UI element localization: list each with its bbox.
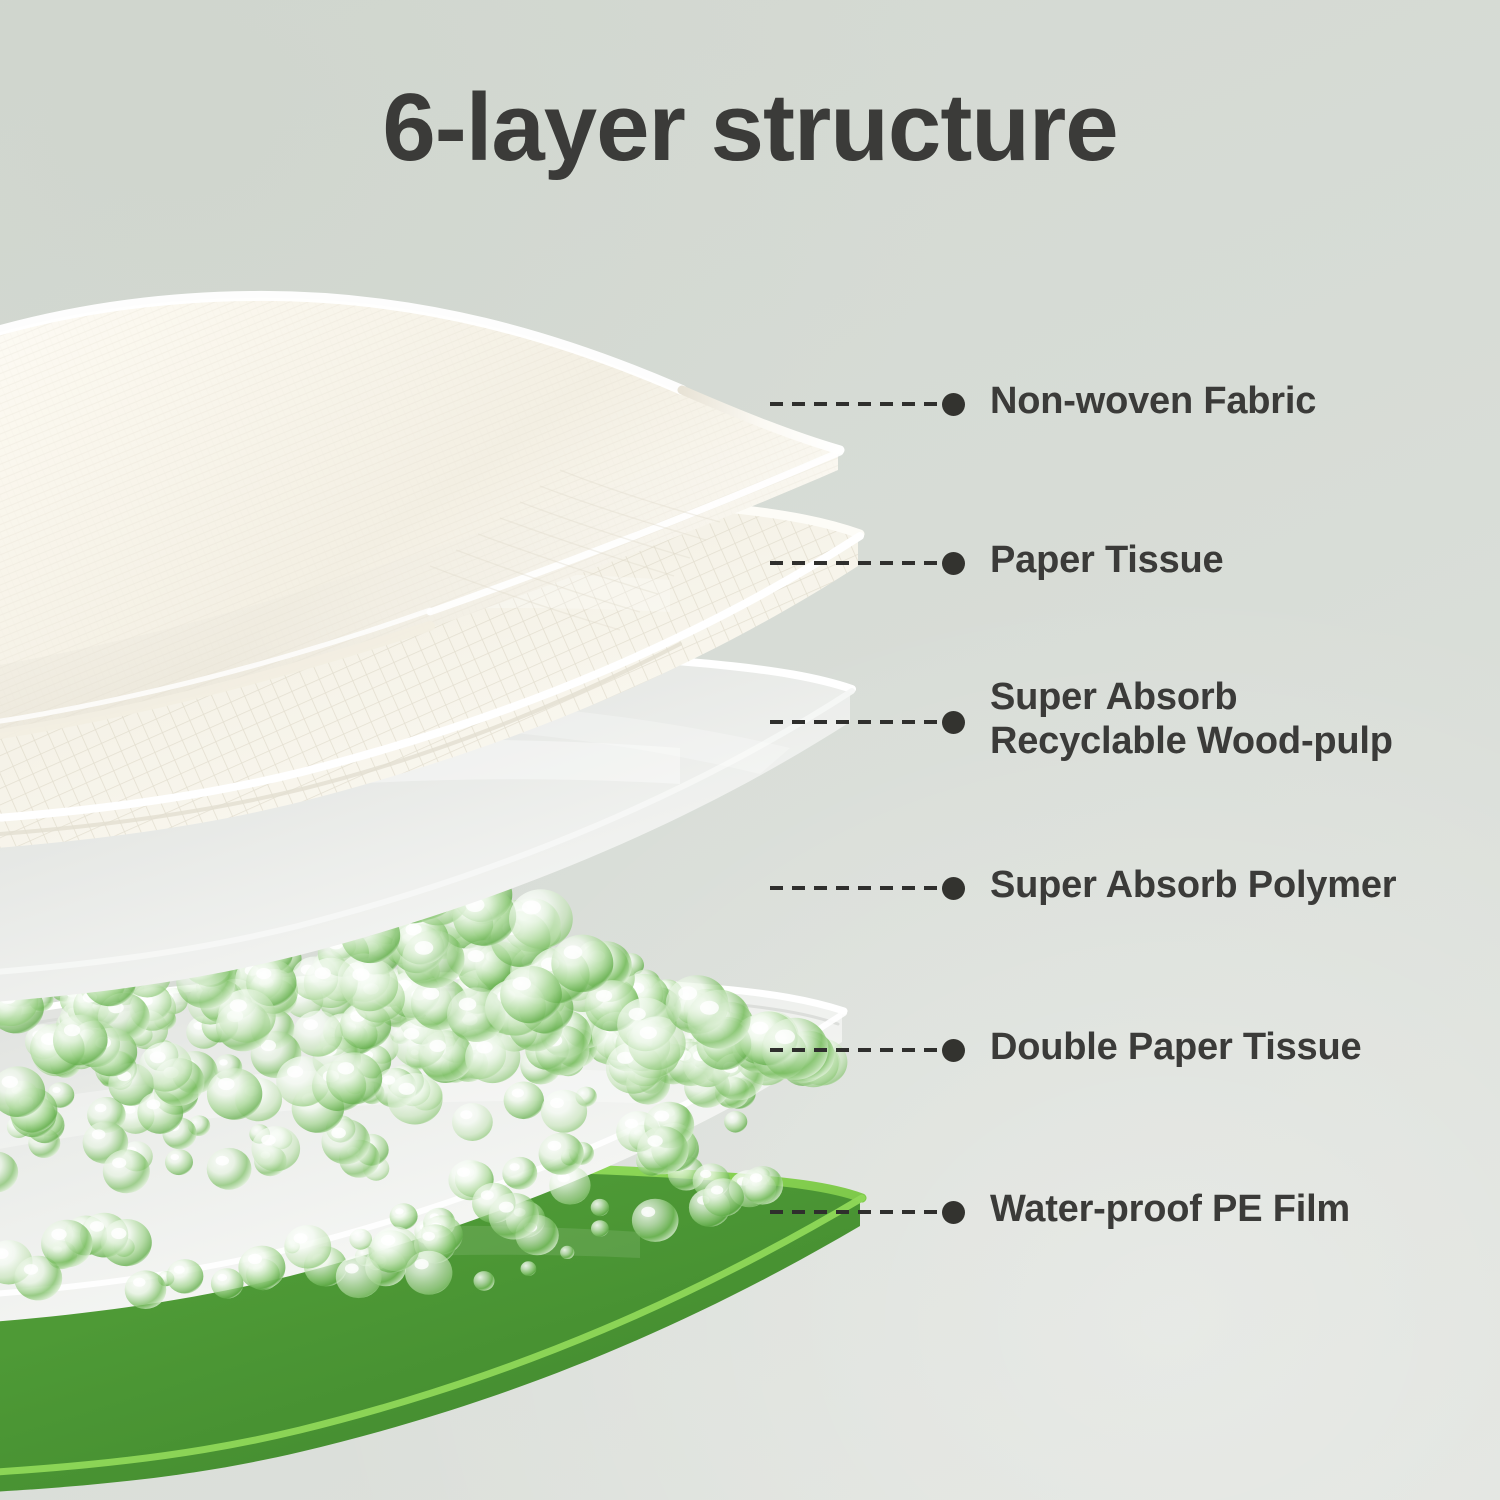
leader-dot [942,393,965,416]
leader-dot [942,877,965,900]
layer-label-2: Paper Tissue [990,538,1223,582]
layer-label-6: Water-proof PE Film [990,1187,1350,1231]
leader-line [770,561,942,565]
leader-line [770,1048,942,1052]
leader-dot [942,552,965,575]
leader-line [770,720,942,724]
layer-label-3: Super Absorb Recyclable Wood-pulp [990,675,1393,763]
leader-line [770,1210,942,1214]
diagram-canvas: 6-layer structure [0,0,1500,1500]
leader-dot [942,711,965,734]
leader-line [770,402,942,406]
layer-label-5: Double Paper Tissue [990,1025,1361,1069]
leader-line [770,886,942,890]
layer-label-4: Super Absorb Polymer [990,863,1396,907]
layer-label-1: Non-woven Fabric [990,379,1316,423]
leader-dot [942,1039,965,1062]
leader-dot [942,1201,965,1224]
